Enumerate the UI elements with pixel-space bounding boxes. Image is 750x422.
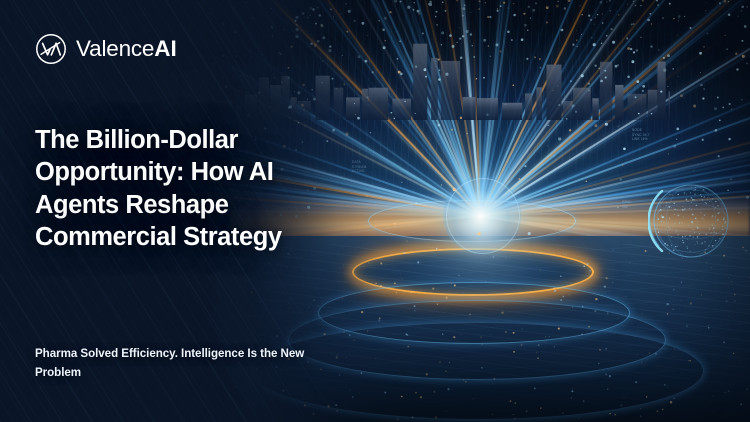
valence-monogram-circle-icon xyxy=(35,33,67,65)
brand-name-bold: AI xyxy=(154,36,177,61)
page-title: The Billion-Dollar Opportunity: How AI A… xyxy=(35,124,335,254)
hero-banner: DATA STREAM ACTIVE NODE SYNC 04.7 LINK 1… xyxy=(0,0,750,422)
hero-content: ValenceAI The Billion-Dollar Opportunity… xyxy=(0,0,750,422)
page-subtitle: Pharma Solved Efficiency. Intelligence I… xyxy=(35,345,335,383)
brand-name-light: Valence xyxy=(76,36,154,61)
brand-logo[interactable]: ValenceAI xyxy=(35,33,177,65)
brand-name: ValenceAI xyxy=(76,36,177,62)
